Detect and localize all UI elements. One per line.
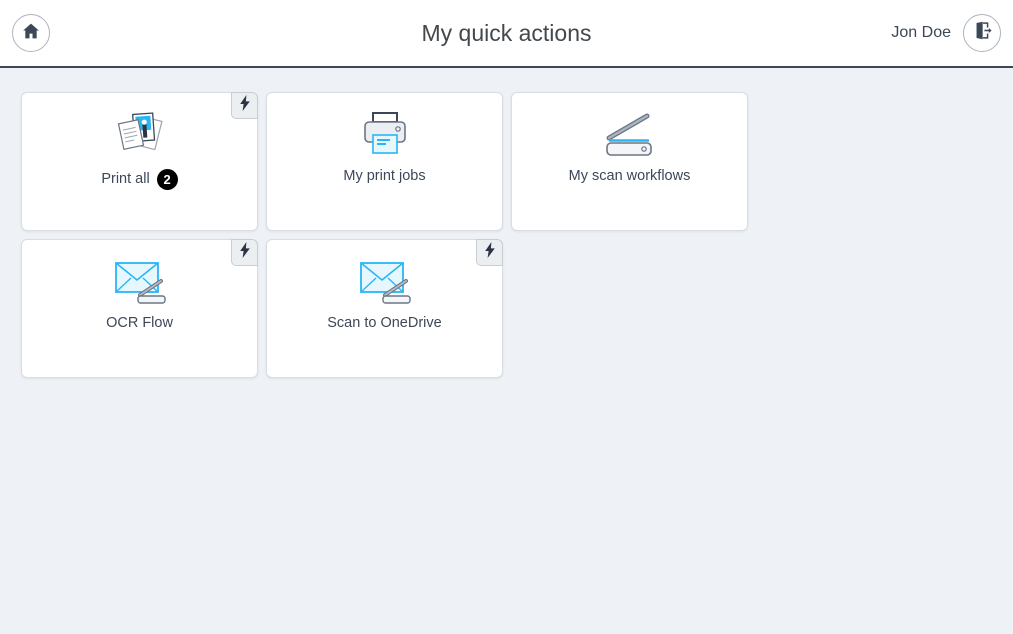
documents-print-icon: [112, 107, 168, 163]
app-header: My quick actions Jon Doe: [0, 0, 1013, 68]
tile-label-row: My print jobs: [343, 169, 425, 184]
tile-label: OCR Flow: [106, 316, 173, 331]
tile-label-row: OCR Flow: [106, 316, 173, 331]
tile-label-row: My scan workflows: [569, 169, 691, 184]
quick-action-flag[interactable]: [231, 92, 258, 119]
header-user-area: Jon Doe: [891, 0, 1001, 66]
page-title: My quick actions: [0, 0, 1013, 66]
tile-my-print-jobs[interactable]: My print jobs: [266, 92, 503, 231]
tile-print-all[interactable]: Print all 2: [21, 92, 258, 231]
lightning-bolt-icon: [484, 242, 496, 263]
logout-button[interactable]: [963, 14, 1001, 52]
scanner-icon: [599, 107, 661, 163]
tile-label: Scan to OneDrive: [327, 316, 441, 331]
lightning-bolt-icon: [239, 242, 251, 263]
tile-label-row: Print all 2: [101, 169, 177, 190]
envelope-scanner-icon: [109, 254, 171, 310]
quick-action-flag[interactable]: [476, 239, 503, 266]
quick-action-flag[interactable]: [231, 239, 258, 266]
quick-actions-grid: Print all 2 My print jobs: [0, 68, 1013, 378]
tile-scan-to-onedrive[interactable]: Scan to OneDrive: [266, 239, 503, 378]
printer-icon: [356, 107, 414, 163]
tile-label-row: Scan to OneDrive: [327, 316, 441, 331]
tile-label: My scan workflows: [569, 169, 691, 184]
user-name: Jon Doe: [891, 24, 951, 42]
tile-ocr-flow[interactable]: OCR Flow: [21, 239, 258, 378]
home-icon: [21, 21, 41, 46]
lightning-bolt-icon: [239, 95, 251, 116]
logout-icon: [972, 20, 993, 46]
status-badge: 2: [157, 169, 178, 190]
tile-label: Print all: [101, 172, 149, 187]
tile-label: My print jobs: [343, 169, 425, 184]
envelope-scanner-icon: [354, 254, 416, 310]
tile-my-scan-workflows[interactable]: My scan workflows: [511, 92, 748, 231]
home-button[interactable]: [12, 14, 50, 52]
